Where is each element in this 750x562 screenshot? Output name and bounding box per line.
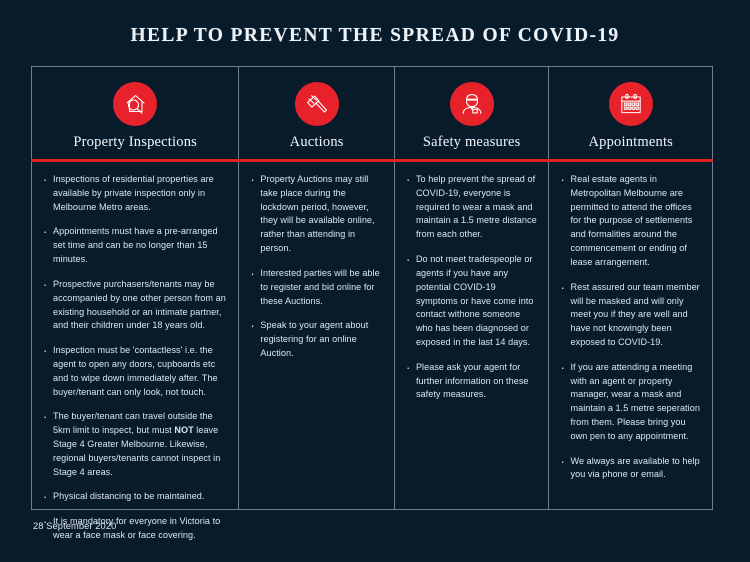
header-divider-rule	[31, 159, 713, 162]
bullet-list: Property Auctions may still take place d…	[249, 173, 383, 361]
list-item-travel: The buyer/tenant can travel outside the …	[42, 410, 227, 479]
column-body: To help prevent the spread of COVID-19, …	[395, 159, 549, 509]
house-magnifier-icon	[113, 82, 157, 126]
list-item: Inspections of residential properties ar…	[42, 173, 227, 214]
covid-info-poster: HELP TO PREVENT THE SPREAD OF COVID-19 P…	[0, 0, 750, 562]
column-header-property-inspections: Property Inspections	[32, 67, 238, 159]
bullet-list: Real estate agents in Metropolitan Melbo…	[559, 173, 701, 482]
column-body: Property Auctions may still take place d…	[239, 159, 394, 509]
column-property-inspections: Property Inspections Inspections of resi…	[32, 67, 239, 509]
column-title: Property Inspections	[73, 134, 197, 151]
column-title: Appointments	[588, 134, 673, 151]
page-title: HELP TO PREVENT THE SPREAD OF COVID-19	[0, 0, 750, 47]
list-item: If you are attending a meeting with an a…	[559, 361, 701, 444]
masked-person-icon	[450, 82, 494, 126]
list-item: Do not meet tradespeople or agents if yo…	[405, 253, 538, 350]
column-body: Inspections of residential properties ar…	[32, 159, 238, 553]
table-columns: Property Inspections Inspections of resi…	[32, 67, 712, 509]
bullet-list: To help prevent the spread of COVID-19, …	[405, 173, 538, 402]
list-item: Prospective purchasers/tenants may be ac…	[42, 278, 227, 333]
column-safety-measures: Safety measures To help prevent the spre…	[395, 67, 550, 509]
list-item: Inspection must be 'contactless' i.e. th…	[42, 344, 227, 399]
list-item: To help prevent the spread of COVID-19, …	[405, 173, 538, 242]
bullet-list: Inspections of residential properties ar…	[42, 173, 227, 543]
calendar-icon	[609, 82, 653, 126]
column-body: Real estate agents in Metropolitan Melbo…	[549, 159, 712, 509]
list-item: Physical distancing to be maintained.	[42, 490, 227, 504]
column-header-appointments: Appointments	[549, 67, 712, 159]
column-title: Auctions	[290, 134, 344, 151]
publication-date: 28 September 2020	[33, 521, 116, 531]
list-item: Rest assured our team member will be mas…	[559, 281, 701, 350]
list-item: Interested parties will be able to regis…	[249, 267, 383, 308]
list-item: We always are available to help you via …	[559, 455, 701, 483]
column-auctions: Auctions Property Auctions may still tak…	[239, 67, 395, 509]
list-item: Property Auctions may still take place d…	[249, 173, 383, 256]
list-item: Speak to your agent about registering fo…	[249, 319, 383, 360]
travel-emphasis: NOT	[174, 425, 193, 435]
column-header-auctions: Auctions	[239, 67, 394, 159]
list-item: Real estate agents in Metropolitan Melbo…	[559, 173, 701, 270]
gavel-icon	[295, 82, 339, 126]
info-table: Property Inspections Inspections of resi…	[31, 66, 713, 510]
column-header-safety-measures: Safety measures	[395, 67, 549, 159]
column-appointments: Appointments Real estate agents in Metro…	[549, 67, 712, 509]
list-item: Please ask your agent for further inform…	[405, 361, 538, 402]
list-item: Appointments must have a pre-arranged se…	[42, 225, 227, 266]
column-title: Safety measures	[423, 134, 521, 151]
